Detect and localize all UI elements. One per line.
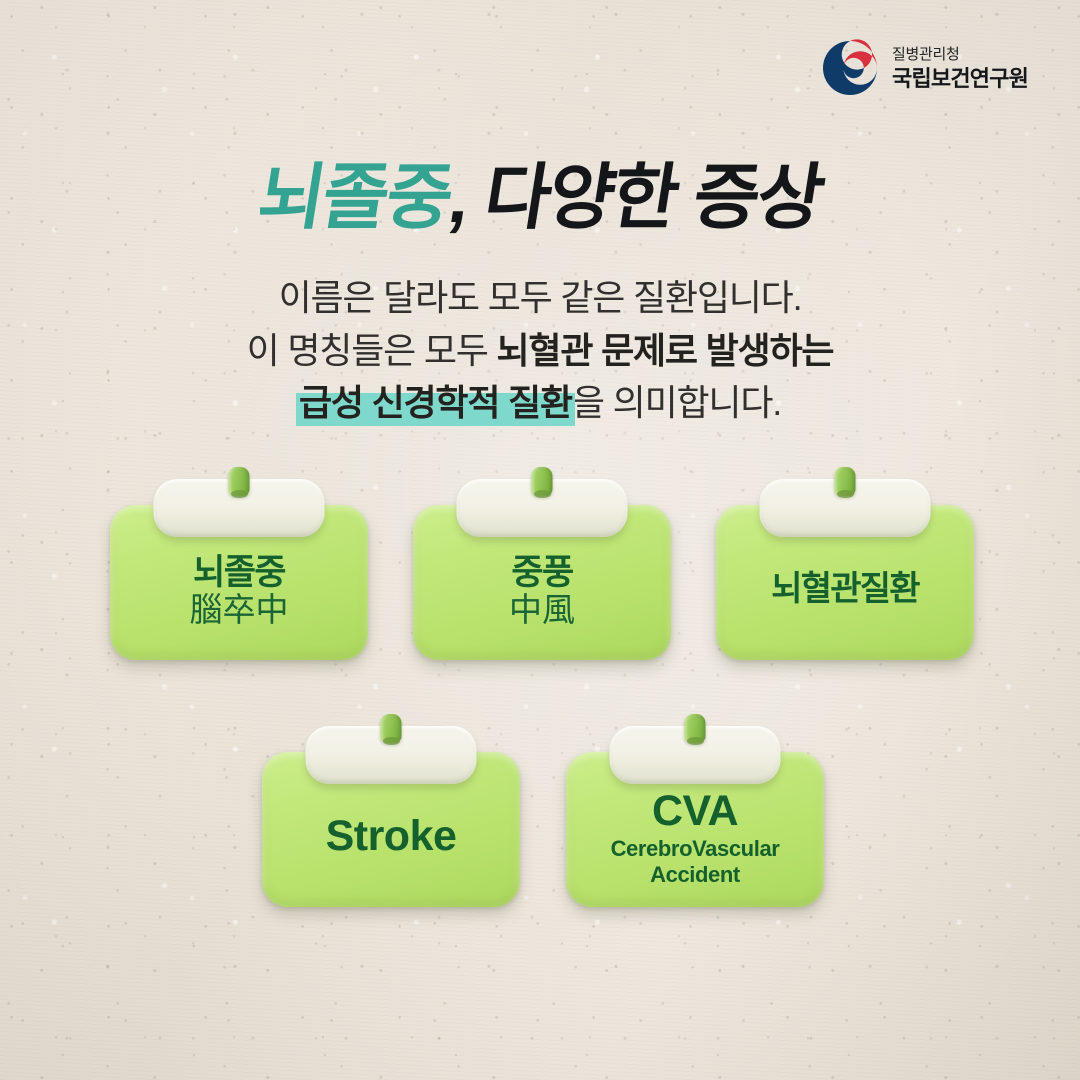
term-card-jungpung[interactable]: 중풍 中風 (413, 505, 671, 660)
subtitle-line-2-plain: 이 명칭들은 모두 (247, 330, 497, 371)
agency-logo: 질병관리청 국립보건연구원 (820, 38, 1028, 98)
page-title: 뇌졸중, 다양한 증상 (0, 158, 1080, 239)
pin-icon (532, 467, 553, 496)
card-korean-label: 중풍 (511, 554, 572, 591)
term-card-cva[interactable]: CVA CerebroVascular Accident (566, 752, 824, 907)
subtitle-line-2-bold: 뇌혈관 문제로 발생하는 (497, 330, 834, 371)
logo-institute-name: 국립보건연구원 (892, 68, 1028, 90)
card-english-label: Stroke (326, 814, 457, 859)
term-card-noejoljung[interactable]: 뇌졸중 腦卒中 (110, 505, 368, 660)
subtitle-block: 이름은 달라도 모두 같은 질환입니다. 이 명칭들은 모두 뇌혈관 문제로 발… (0, 272, 1080, 430)
subtitle-line-2: 이 명칭들은 모두 뇌혈관 문제로 발생하는 (0, 325, 1080, 378)
subtitle-line-3-tail: 을 의미합니다. (572, 382, 781, 423)
subtitle-highlight-phrase: 급성 신경학적 질환 (299, 377, 572, 430)
card-english-label: CVA (652, 789, 738, 834)
page-title-highlight: 뇌졸중 (252, 158, 456, 239)
logo-text-block: 질병관리청 국립보건연구원 (892, 47, 1028, 90)
logo-agency-name: 질병관리청 (892, 47, 1028, 62)
subtitle-line-3: 급성 신경학적 질환을 의미합니다. (0, 377, 1080, 430)
card-hanja-label: 腦卒中 (190, 592, 289, 629)
pin-icon (381, 714, 402, 743)
card-korean-label: 뇌혈관질환 (771, 571, 918, 607)
pin-icon (685, 714, 706, 743)
card-english-sub-line-2: Accident (650, 862, 740, 888)
card-hanja-label: 中風 (509, 592, 575, 629)
card-korean-label: 뇌졸중 (193, 554, 285, 591)
term-card-stroke[interactable]: Stroke (262, 752, 520, 907)
term-card-cerebrovascular-disease[interactable]: 뇌혈관질환 (716, 505, 974, 660)
pin-icon (229, 467, 250, 496)
infographic-page: 질병관리청 국립보건연구원 뇌졸중, 다양한 증상 이름은 달라도 모두 같은 … (0, 0, 1080, 1080)
taegeuk-symbol-icon (820, 38, 880, 98)
pin-icon (835, 467, 856, 496)
page-title-rest: , 다양한 증상 (444, 158, 828, 239)
subtitle-line-1: 이름은 달라도 모두 같은 질환입니다. (0, 272, 1080, 325)
card-english-sub-line-1: CerebroVascular (611, 836, 780, 862)
